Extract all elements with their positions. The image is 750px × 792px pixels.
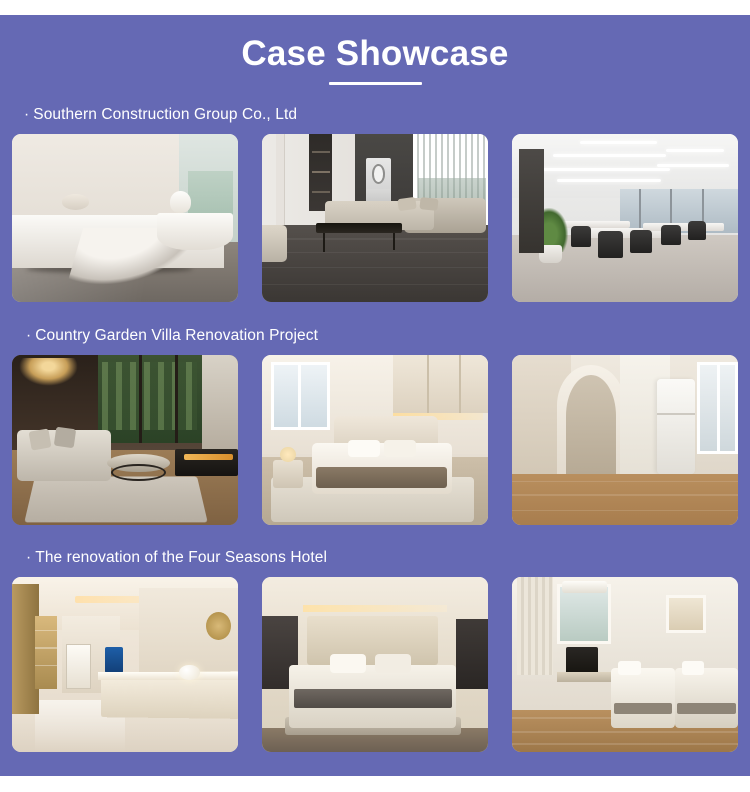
section-heading-1-label: Southern Construction Group Co., Ltd bbox=[33, 106, 297, 123]
scene-warm-bedroom bbox=[262, 355, 488, 525]
image-row-3 bbox=[0, 577, 750, 752]
case-image-1-3[interactable] bbox=[512, 134, 738, 302]
scene-open-plan-office bbox=[512, 134, 738, 302]
section-heading-2-label: Country Garden Villa Renovation Project bbox=[35, 327, 318, 344]
section-country-garden: ·Country Garden Villa Renovation Project bbox=[0, 322, 750, 525]
image-row-2 bbox=[0, 355, 750, 525]
scene-hotel-king-bedroom bbox=[262, 577, 488, 752]
case-image-2-3[interactable] bbox=[512, 355, 738, 525]
case-showcase-page: Case Showcase ·Southern Construction Gro… bbox=[0, 0, 750, 792]
section-southern-construction: ·Southern Construction Group Co., Ltd bbox=[0, 101, 750, 302]
case-image-2-2[interactable] bbox=[262, 355, 488, 525]
image-row-1 bbox=[0, 134, 750, 302]
scene-hotel-twin-bedroom bbox=[512, 577, 738, 752]
section-heading-3: ·The renovation of the Four Seasons Hote… bbox=[0, 544, 750, 572]
title-underline bbox=[329, 82, 422, 85]
bullet-icon: · bbox=[26, 327, 31, 344]
scene-arched-hallway bbox=[512, 355, 738, 525]
scene-reception-desk bbox=[12, 134, 238, 302]
scene-living-room-dark-floor bbox=[262, 134, 488, 302]
section-four-seasons: ·The renovation of the Four Seasons Hote… bbox=[0, 544, 750, 752]
case-image-3-1[interactable] bbox=[12, 577, 238, 752]
case-image-2-1[interactable] bbox=[12, 355, 238, 525]
page-title: Case Showcase bbox=[0, 34, 750, 74]
title-block: Case Showcase bbox=[0, 15, 750, 85]
purple-banner: Case Showcase ·Southern Construction Gro… bbox=[0, 15, 750, 776]
bullet-icon: · bbox=[26, 549, 31, 566]
case-image-1-2[interactable] bbox=[262, 134, 488, 302]
section-heading-1: ·Southern Construction Group Co., Ltd bbox=[0, 101, 750, 129]
bullet-icon: · bbox=[24, 106, 29, 123]
scene-luxury-living-room bbox=[12, 355, 238, 525]
section-heading-2: ·Country Garden Villa Renovation Project bbox=[0, 322, 750, 350]
case-image-3-2[interactable] bbox=[262, 577, 488, 752]
section-heading-3-label: The renovation of the Four Seasons Hotel bbox=[35, 549, 327, 566]
case-image-1-1[interactable] bbox=[12, 134, 238, 302]
scene-hotel-lobby bbox=[12, 577, 238, 752]
case-image-3-3[interactable] bbox=[512, 577, 738, 752]
